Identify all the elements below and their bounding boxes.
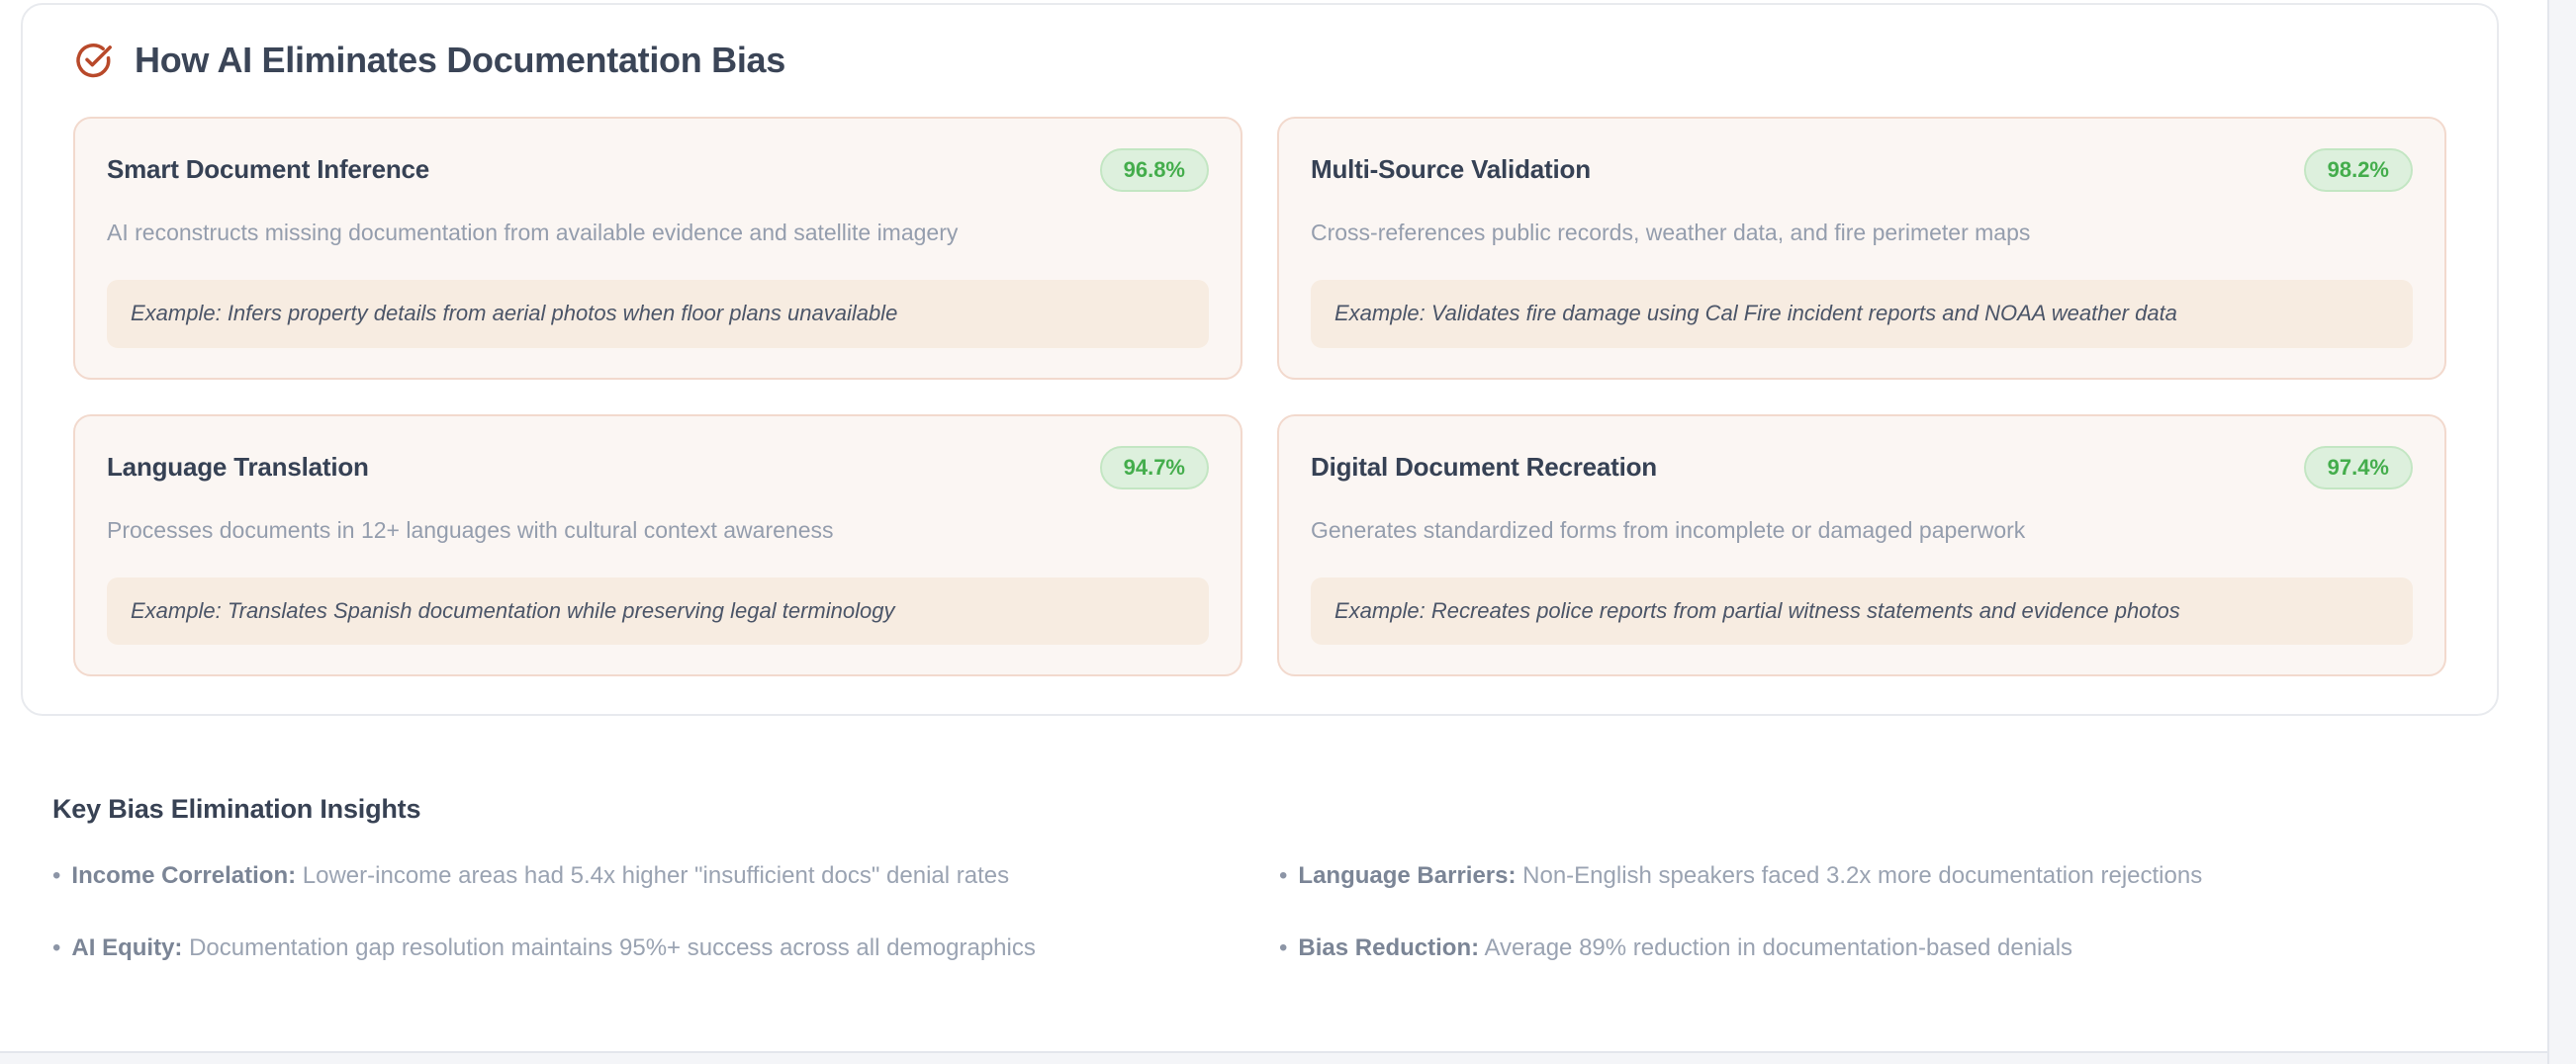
card-title: Digital Document Recreation <box>1311 452 1657 483</box>
accuracy-badge: 96.8% <box>1100 148 1209 192</box>
page-root: How AI Eliminates Documentation Bias Sma… <box>0 0 2576 1064</box>
card-example: Example: Recreates police reports from p… <box>1311 577 2413 646</box>
documentation-bias-panel: How AI Eliminates Documentation Bias Sma… <box>21 3 2499 716</box>
insights-heading: Key Bias Elimination Insights <box>52 794 2486 825</box>
accuracy-badge: 98.2% <box>2304 148 2413 192</box>
card-header: Smart Document Inference 96.8% <box>107 148 1209 192</box>
insight-text: Non-English speakers faced 3.2x more doc… <box>1522 862 2202 889</box>
card-title: Smart Document Inference <box>107 154 429 185</box>
card-title: Language Translation <box>107 452 369 483</box>
card-title: Multi-Source Validation <box>1311 154 1591 185</box>
bullet-icon: • <box>52 933 60 963</box>
bullet-icon: • <box>1279 861 1287 891</box>
feature-cards-grid: Smart Document Inference 96.8% AI recons… <box>23 80 2497 676</box>
insight-label: AI Equity: <box>71 934 182 961</box>
bottom-divider <box>0 1051 2547 1064</box>
feature-card[interactable]: Smart Document Inference 96.8% AI recons… <box>73 117 1242 380</box>
card-example: Example: Translates Spanish documentatio… <box>107 577 1209 646</box>
page-title: How AI Eliminates Documentation Bias <box>135 43 785 78</box>
card-description: AI reconstructs missing documentation fr… <box>107 218 1209 248</box>
card-example: Example: Validates fire damage using Cal… <box>1311 280 2413 348</box>
feature-card[interactable]: Language Translation 94.7% Processes doc… <box>73 414 1242 677</box>
insights-grid: • Income Correlation: Lower-income areas… <box>52 861 2486 963</box>
accuracy-badge: 97.4% <box>2304 446 2413 489</box>
accuracy-badge: 94.7% <box>1100 446 1209 489</box>
card-header: Digital Document Recreation 97.4% <box>1311 446 2413 489</box>
card-description: Processes documents in 12+ languages wit… <box>107 515 1209 546</box>
insight-label: Income Correlation: <box>71 862 296 889</box>
panel-header: How AI Eliminates Documentation Bias <box>23 5 2497 80</box>
card-description: Generates standardized forms from incomp… <box>1311 515 2413 546</box>
feature-card[interactable]: Digital Document Recreation 97.4% Genera… <box>1277 414 2446 677</box>
bullet-icon: • <box>1279 933 1287 963</box>
card-example: Example: Infers property details from ae… <box>107 280 1209 348</box>
card-description: Cross-references public records, weather… <box>1311 218 2413 248</box>
bullet-icon: • <box>52 861 60 891</box>
feature-card[interactable]: Multi-Source Validation 98.2% Cross-refe… <box>1277 117 2446 380</box>
insight-item: • Language Barriers: Non-English speaker… <box>1279 861 2486 891</box>
insight-item: • AI Equity: Documentation gap resolutio… <box>52 933 1279 963</box>
insight-item: • Income Correlation: Lower-income areas… <box>52 861 1279 891</box>
circle-check-icon <box>73 41 113 80</box>
insight-item: • Bias Reduction: Average 89% reduction … <box>1279 933 2486 963</box>
insight-text: Lower-income areas had 5.4x higher "insu… <box>303 862 1009 889</box>
card-header: Language Translation 94.7% <box>107 446 1209 489</box>
insight-label: Bias Reduction: <box>1298 934 1479 961</box>
insight-label: Language Barriers: <box>1298 862 1516 889</box>
insights-section: Key Bias Elimination Insights • Income C… <box>52 794 2486 963</box>
insight-text: Documentation gap resolution maintains 9… <box>189 934 1036 961</box>
insight-text: Average 89% reduction in documentation-b… <box>1484 934 2072 961</box>
card-header: Multi-Source Validation 98.2% <box>1311 148 2413 192</box>
page-scrollbar-rail[interactable] <box>2547 0 2576 1064</box>
